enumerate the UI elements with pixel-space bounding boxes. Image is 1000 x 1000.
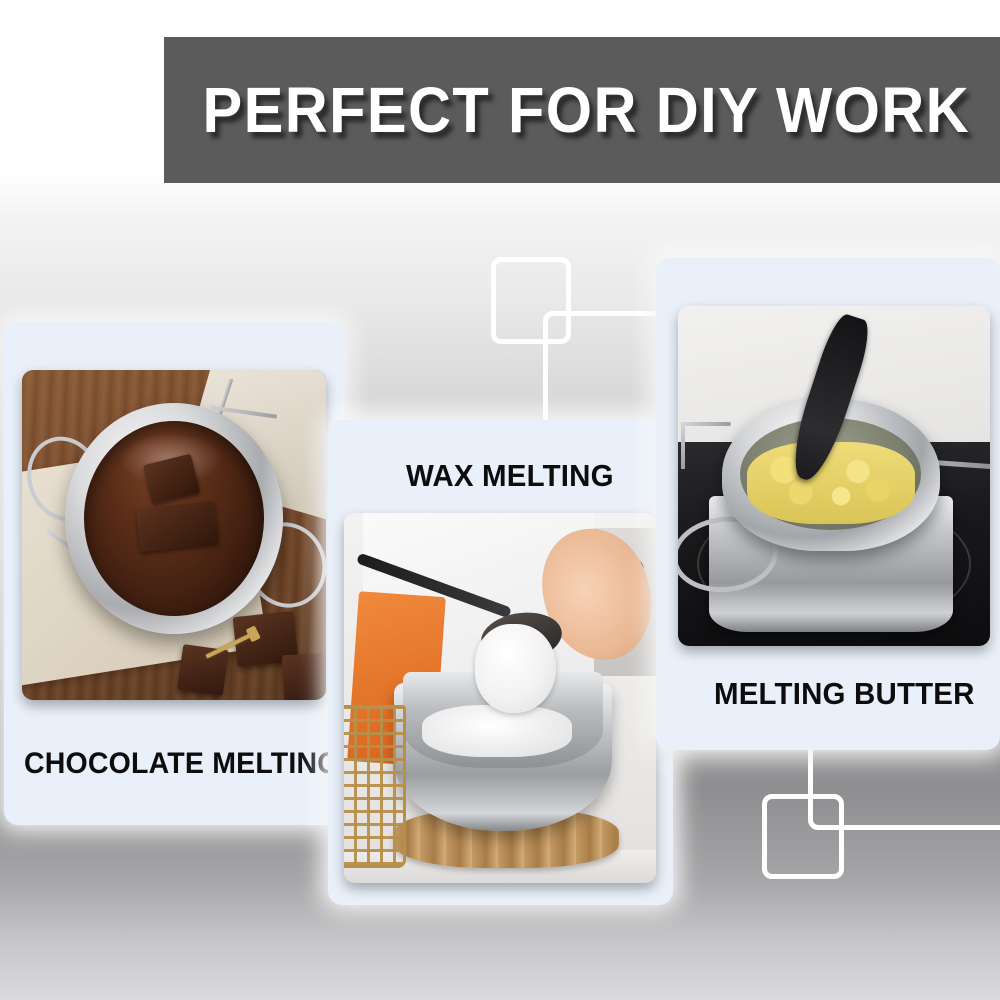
header-banner: PERFECT FOR DIY WORK bbox=[164, 37, 1000, 183]
infographic-canvas: PERFECT FOR DIY WORK bbox=[0, 0, 1000, 1000]
card-label-chocolate: CHOCOLATE MELTING bbox=[24, 747, 340, 781]
feature-card-wax: WAX MELTING bbox=[328, 420, 673, 905]
decorative-square-lower-small bbox=[762, 794, 844, 879]
photo-chocolate-melting bbox=[22, 370, 326, 700]
card-label-butter: MELTING BUTTER bbox=[714, 676, 975, 712]
feature-card-chocolate: CHOCOLATE MELTING bbox=[4, 322, 344, 825]
page-title: PERFECT FOR DIY WORK bbox=[194, 73, 971, 147]
card-label-wax: WAX MELTING bbox=[406, 458, 614, 494]
decorative-square-upper-small bbox=[491, 257, 571, 344]
photo-melting-butter bbox=[678, 306, 990, 646]
photo-wax-melting bbox=[344, 513, 656, 883]
feature-card-butter: MELTING BUTTER bbox=[656, 258, 1000, 750]
